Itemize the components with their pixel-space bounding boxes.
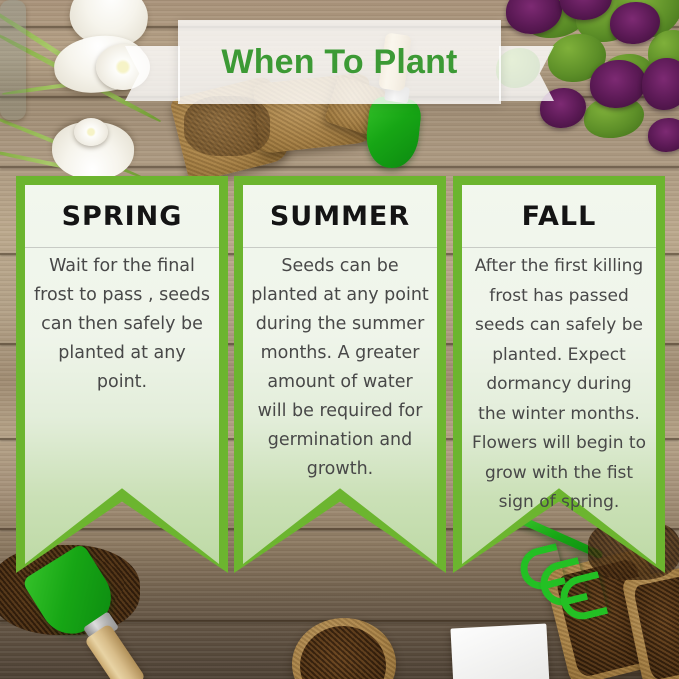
panel-header-fall: FALL [462, 185, 656, 248]
panel-heading-text: FALL [522, 201, 597, 232]
title-banner: When To Plant [178, 20, 501, 104]
panel-body-summer: Seeds can be planted at any point during… [243, 252, 437, 484]
panel-body-fall: After the first killing frost has passed… [462, 252, 656, 518]
poster: When To Plant SPRING Wait for the final … [0, 0, 679, 679]
panel-header-summer: SUMMER [243, 185, 437, 248]
panel-header-spring: SPRING [25, 185, 219, 248]
panel-heading-text: SUMMER [270, 201, 410, 232]
panel-body-spring: Wait for the final frost to pass , seeds… [25, 252, 219, 397]
plank-seam [0, 528, 679, 530]
page-title: When To Plant [221, 43, 457, 82]
seed-packet [450, 624, 549, 679]
panel-heading-text: SPRING [62, 201, 183, 232]
